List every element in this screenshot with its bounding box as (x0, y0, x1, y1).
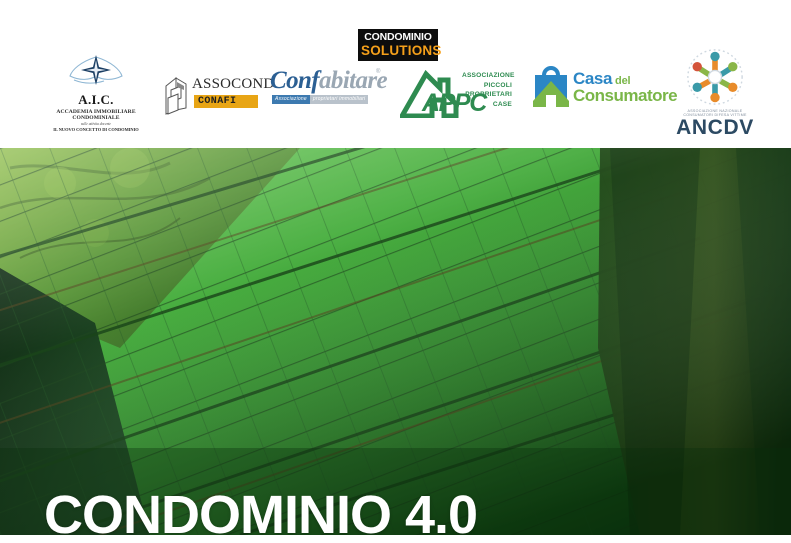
logo-confabitare-subbar: Associazione proprietari immobiliari (272, 95, 368, 104)
logo-confabitare: Confabitare ® Associazione proprietari i… (270, 68, 392, 114)
page-title: CONDOMINIO 4.0 (44, 486, 477, 535)
logo-ancdv-name: ANCDV (673, 117, 757, 139)
logo-appc-line-1: PICCOLI (462, 81, 512, 91)
hero-background-image (0, 148, 791, 535)
logo-appc-line-3: CASE (462, 100, 512, 110)
assocond-building-icon (164, 76, 194, 116)
logo-assocond-sub: CONAFI (198, 96, 236, 107)
logo-assocond: ASSOCOND CONAFI (164, 74, 264, 118)
partner-logo-bar: CONDOMINIO SOLUTIONS A.I.C. ACCADEMIA IM… (0, 0, 791, 148)
logo-confabitare-wordmark: Confabitare (270, 68, 387, 94)
logo-assocond-name: ASSOCOND (192, 76, 274, 92)
logo-confabitare-sub1: Associazione (272, 95, 310, 104)
hero-banner: CONDOMINIO 4.0 UN LABORATORIO/WORKSHOP P… (0, 148, 791, 535)
logo-appc-line-0: ASSOCIAZIONE (462, 71, 512, 81)
logo-appc-line-2: PROPRIETARI (462, 90, 512, 100)
logo-aic-line2: sulle attivita docente (36, 122, 156, 126)
logo-appc: APPC ASSOCIAZIONE PICCOLI PROPRIETARI CA… (400, 70, 512, 118)
logo-condominio-solutions: CONDOMINIO SOLUTIONS (358, 29, 438, 61)
casa-bag-house-icon (531, 61, 571, 109)
registered-trademark-icon: ® (376, 69, 380, 75)
logo-aic: A.I.C. ACCADEMIA IMMOBILIARE CONDOMINIAL… (36, 54, 156, 132)
logo-aic-line1: ACCADEMIA IMMOBILIARE CONDOMINIALE (36, 109, 156, 121)
aic-star-icon (66, 54, 126, 86)
logo-casa-word3: Consumatore (573, 86, 677, 106)
logo-confabitare-part1: Conf (270, 67, 319, 94)
logo-appc-lines: ASSOCIAZIONE PICCOLI PROPRIETARI CASE (462, 71, 512, 109)
logo-aic-line3: IL NUOVO CONCETTO DI CONDOMINIO (36, 127, 156, 132)
logo-condominio-solutions-line1: CONDOMINIO (361, 31, 435, 43)
logo-casa-del-consumatore: Casadel Consumatore (531, 61, 659, 113)
logo-condominio-solutions-line2: SOLUTIONS (361, 43, 435, 58)
logo-confabitare-sub2: proprietari immobiliari (310, 95, 368, 104)
logo-aic-name: A.I.C. (36, 92, 156, 108)
logo-ancdv: ASSOCIAZIONE NAZIONALE CONSUMATORI DIFES… (673, 48, 757, 139)
ancdv-network-icon (684, 48, 746, 106)
